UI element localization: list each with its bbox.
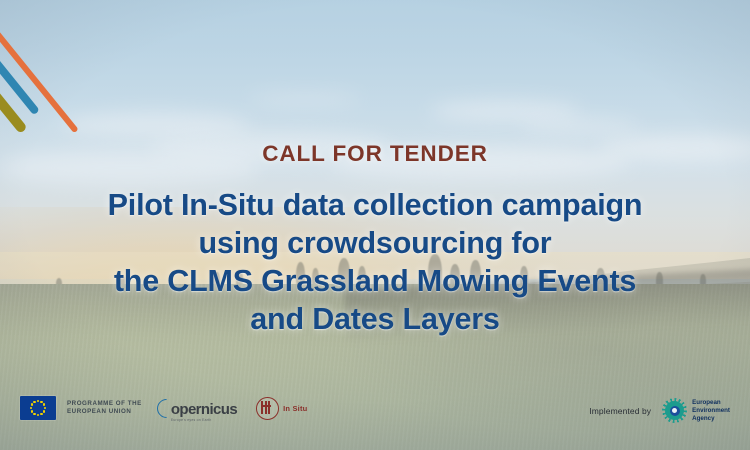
- eea-name: European Environment Agency: [692, 399, 730, 423]
- page-title-line-2: using crowdsourcing for: [0, 224, 750, 262]
- funder-logos: PROGRAMME OF THE EUROPEAN UNION opernicu…: [20, 395, 307, 421]
- eu-caption-line-1: PROGRAMME OF THE: [67, 400, 142, 408]
- copernicus-wordmark: opernicus: [171, 401, 237, 418]
- poster-content: CALL FOR TENDER Pilot In-Situ data colle…: [0, 0, 750, 450]
- eea-name-line-3: Agency: [692, 415, 730, 423]
- eu-star-icon: [40, 413, 42, 415]
- eu-star-icon: [37, 400, 39, 402]
- eea-name-line-2: Environment: [692, 407, 730, 415]
- footer-logo-bar: PROGRAMME OF THE EUROPEAN UNION opernicu…: [0, 384, 750, 450]
- eu-star-icon: [33, 413, 35, 415]
- eu-star-icon: [30, 407, 32, 409]
- copernicus-tagline: Europe's eyes on Earth: [171, 418, 212, 422]
- in-situ-label: In Situ: [283, 404, 307, 413]
- in-situ-mark-icon: [256, 397, 279, 420]
- eu-star-icon: [37, 414, 39, 416]
- eea-gear-icon: [662, 398, 687, 423]
- eu-star-icon: [31, 403, 33, 405]
- eu-star-icon: [31, 410, 33, 412]
- in-situ-logo: In Situ: [256, 397, 307, 420]
- eyebrow-label: CALL FOR TENDER: [0, 141, 750, 167]
- eu-programme-caption: PROGRAMME OF THE EUROPEAN UNION: [67, 400, 142, 416]
- page-title-line-1: Pilot In-Situ data collection campaign: [0, 186, 750, 224]
- eu-star-icon: [44, 407, 46, 409]
- eu-caption-line-2: EUROPEAN UNION: [67, 408, 142, 416]
- page-title-line-4: and Dates Layers: [0, 300, 750, 338]
- eea-logo: European Environment Agency: [662, 398, 730, 423]
- implementer-logos: Implemented by European Environment Agen…: [589, 398, 730, 423]
- eu-star-icon: [43, 410, 45, 412]
- implemented-by-label: Implemented by: [589, 406, 651, 416]
- page-title: Pilot In-Situ data collection campaignus…: [0, 186, 750, 338]
- eu-star-icon: [43, 403, 45, 405]
- poster-banner: CALL FOR TENDER Pilot In-Situ data colle…: [0, 0, 750, 450]
- eea-name-line-1: European: [692, 399, 730, 407]
- eu-flag-icon: [20, 396, 56, 420]
- eu-star-icon: [33, 401, 35, 403]
- page-title-line-3: the CLMS Grassland Mowing Events: [0, 262, 750, 300]
- copernicus-logo: opernicus Europe's eyes on Earth: [157, 395, 237, 421]
